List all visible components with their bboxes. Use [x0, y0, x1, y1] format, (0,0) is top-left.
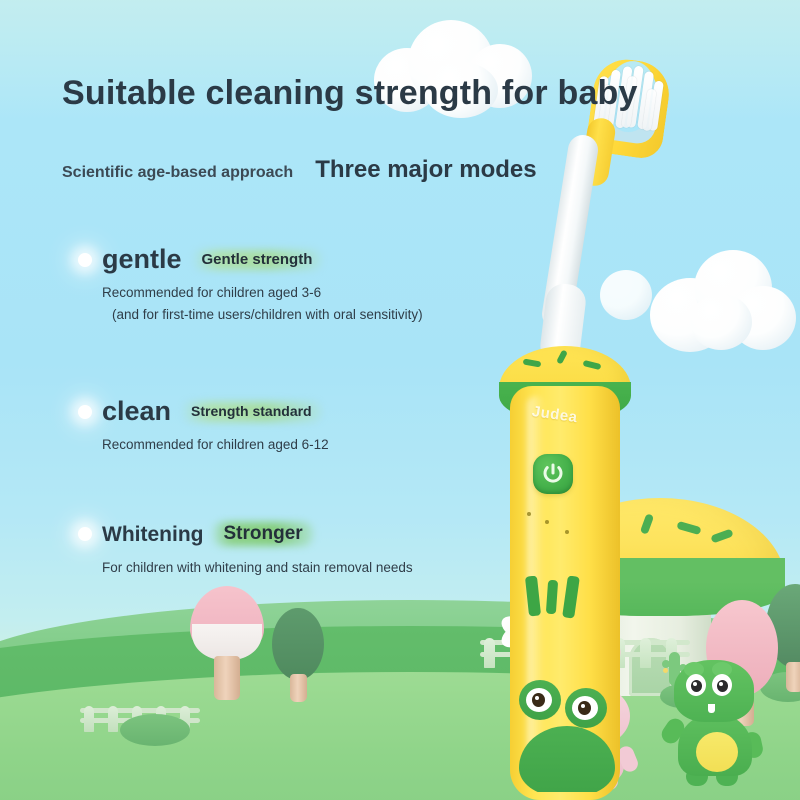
bullet-dot-icon: [78, 253, 92, 267]
mode-badge-label: Strength standard: [191, 403, 312, 419]
mode-item-gentle[interactable]: gentle Gentle strength Recommended for c…: [78, 246, 423, 322]
bullet-dot-icon: [78, 405, 92, 419]
mode-item-clean[interactable]: clean Strength standard Recommended for …: [78, 398, 329, 452]
mode-badge: Strength standard: [181, 400, 322, 424]
page-title: Suitable cleaning strength for baby: [62, 74, 638, 113]
subheadline: Scientific age-based approach Three majo…: [62, 156, 537, 184]
mode-description-secondary: (and for first-time users/children with …: [112, 307, 423, 322]
mode-badge-label: Stronger: [223, 523, 302, 544]
mode-name: clean: [102, 398, 171, 425]
mode-name: gentle: [102, 246, 182, 273]
led-indicators: [527, 512, 581, 540]
power-icon: [542, 462, 564, 486]
frog-decoration: [513, 576, 619, 792]
mode-badge: Stronger: [213, 520, 312, 548]
mode-badge-label: Gentle strength: [202, 251, 313, 268]
subheadline-big: Three major modes: [315, 156, 536, 184]
bullet-dot-icon: [78, 527, 92, 541]
tree-green: [272, 608, 324, 704]
mode-badge: Gentle strength: [192, 248, 323, 272]
mode-description: Recommended for children aged 6-12: [102, 437, 329, 452]
mode-description: For children with whitening and stain re…: [102, 560, 413, 575]
subheadline-small: Scientific age-based approach: [62, 164, 293, 182]
promo-scene: Judea Suitable cleaning strength for bab…: [0, 0, 800, 800]
mode-item-whitening[interactable]: Whitening Stronger For children with whi…: [78, 520, 413, 575]
crocodile-figurine: [664, 660, 762, 790]
mode-name: Whitening: [102, 524, 203, 545]
power-button[interactable]: [533, 454, 573, 494]
mode-description: Recommended for children aged 3-6: [102, 285, 423, 300]
bush: [120, 714, 190, 746]
tree-pink: [190, 586, 264, 706]
